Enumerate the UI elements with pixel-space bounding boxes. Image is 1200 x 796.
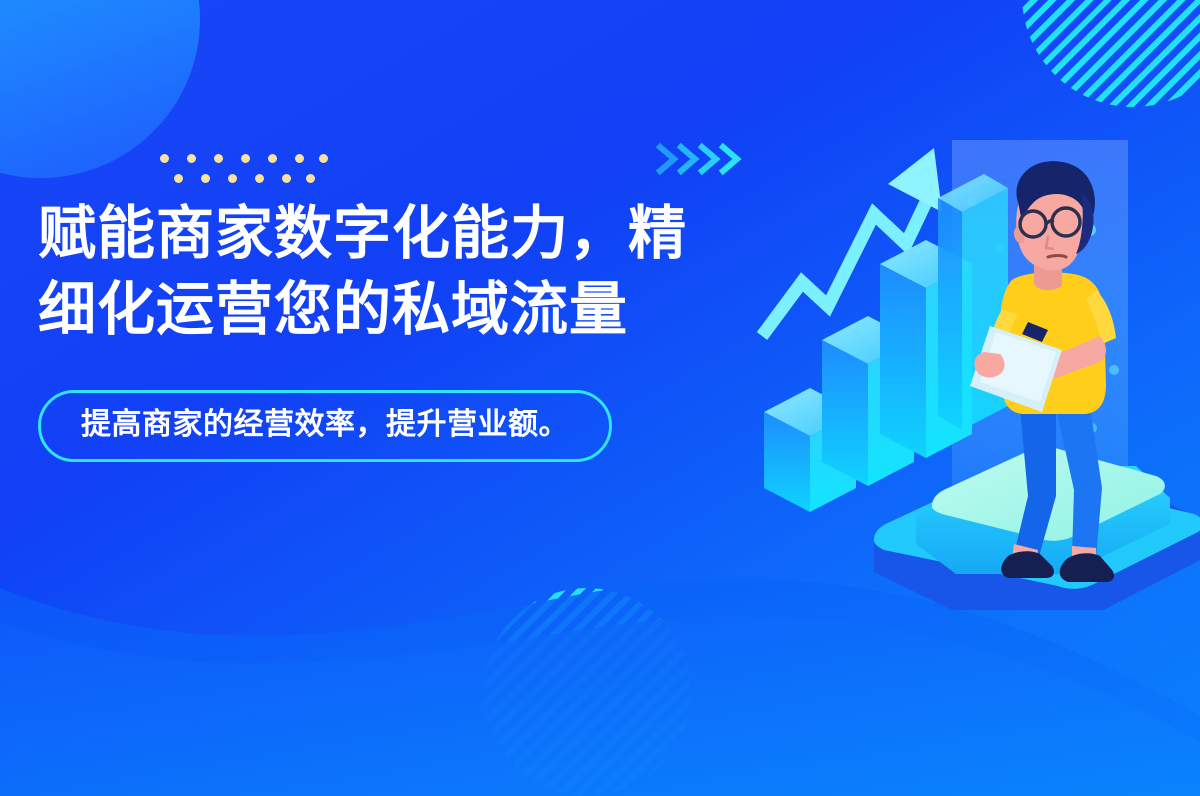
dot-grid-decoration (160, 148, 328, 186)
subtitle-pill: 提高商家的经营效率，提升营业额。 (38, 390, 612, 462)
page-title: 赋能商家数字化能力，精 细化运营您的私域流量 (38, 196, 778, 348)
character-mouth (1048, 256, 1066, 258)
promo-banner: 赋能商家数字化能力，精 细化运营您的私域流量 提高商家的经营效率，提升营业额。 (0, 0, 1200, 796)
business-growth-illustration (756, 140, 1200, 610)
striped-circle-top-right (1022, 0, 1200, 107)
chevron-right-icon (655, 138, 755, 180)
copy-block: 赋能商家数字化能力，精 细化运营您的私域流量 提高商家的经营效率，提升营业额。 (38, 196, 778, 462)
character-hand-left (974, 352, 1004, 377)
